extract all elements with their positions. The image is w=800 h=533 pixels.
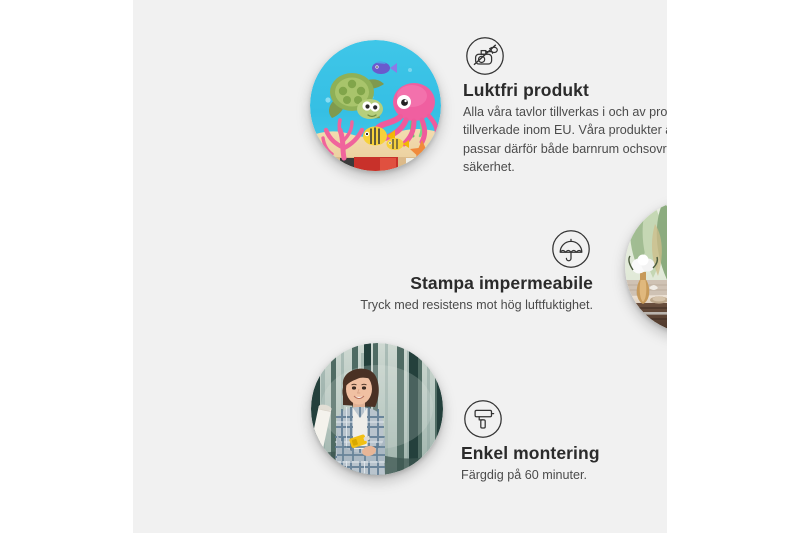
bathroom-tropical-leaf-wallpaper-circle-photo[interactable] [625,200,667,333]
forest-woman-illustration [311,343,443,475]
umbrella-glyph [551,229,591,269]
underwater-cartoon-sea-life-circle-photo[interactable] [310,40,441,171]
paint-roller-glyph [463,399,503,439]
feature-title: Stampa impermeabile [313,273,593,294]
feature-title: Luktfri produkt [463,80,667,101]
underwater-illustration [310,40,441,171]
screenshot-canvas: Luktfri produkt Alla våra tavlor tillver… [0,0,800,533]
feature-block-stampa-impermeabile: Stampa impermeabile Tryck med resistens … [313,229,593,314]
umbrella-icon [551,229,591,269]
feature-title: Enkel montering [461,443,667,464]
photo-2-inner [625,200,667,333]
content-panel: Luktfri produkt Alla våra tavlor tillver… [133,0,667,533]
feature-description: Alla våra tavlor tillverkas i och av pro… [463,103,667,177]
bathroom-illustration [625,200,667,333]
photo-3-inner [311,343,443,475]
feature-description: Färgdig på 60 minuter. [461,466,667,484]
paint-roller-icon [463,399,503,439]
feature-block-luktfri-produkt: Luktfri produkt Alla våra tavlor tillver… [463,36,667,177]
feature-description: Tryck med resistens mot hög luftfuktighe… [313,296,593,314]
woman-forest-wallpaper-circle-photo[interactable] [311,343,443,475]
no-scent-perfume-bottle-glyph [465,36,505,76]
feature-block-enkel-montering: Enkel montering Färgdig på 60 minuter. [461,399,667,484]
photo-1-inner [310,40,441,171]
no-scent-perfume-bottle-icon [465,36,505,76]
